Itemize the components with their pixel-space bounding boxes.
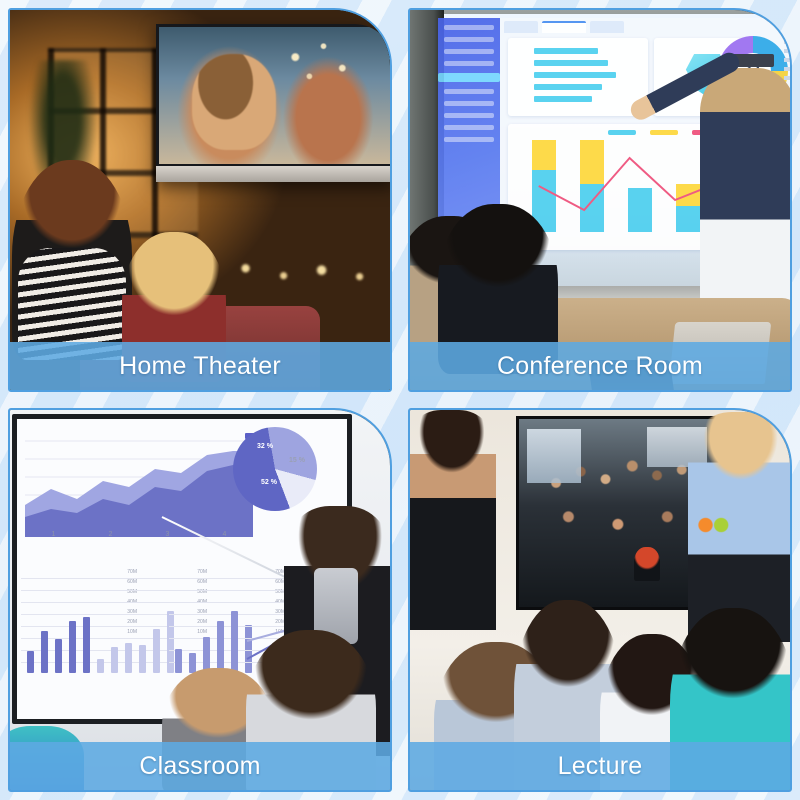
- horizontal-bar-chart: [508, 38, 648, 116]
- held-fruit: [696, 514, 730, 536]
- panel-cell-classroom: 1 2 3 4 32 % 15 % 52 %: [0, 400, 400, 800]
- legend-swatch-unqualified: [650, 130, 678, 135]
- speaker-left: [410, 410, 496, 630]
- scene-classroom: 1 2 3 4 32 % 15 % 52 %: [10, 410, 390, 790]
- area-chart: [25, 429, 253, 537]
- area-chart-axis: 1 2 3 4: [25, 531, 253, 538]
- panel-conference-room[interactable]: 14: [408, 8, 792, 392]
- scene-conference-room: 14: [410, 10, 790, 390]
- scene-home-theater: [10, 10, 390, 390]
- sidebar-item-dashboard[interactable]: [438, 73, 500, 82]
- pie-label-2: 15 %: [289, 457, 305, 464]
- sidebar-item-mp-report[interactable]: [444, 89, 494, 94]
- projected-window-left: [527, 429, 581, 483]
- axis-tick: 3: [166, 531, 170, 538]
- sidebar-item-first-pass-report[interactable]: [444, 101, 494, 106]
- axis-tick: 1: [52, 531, 56, 538]
- scenario-grid: Home Theater: [0, 0, 800, 800]
- sidebar-item-work-order-actual-hours[interactable]: [444, 49, 494, 54]
- panel-caption-lecture: Lecture: [410, 742, 790, 790]
- panel-caption-home-theater: Home Theater: [10, 342, 390, 390]
- axis-tick: 2: [109, 531, 113, 538]
- projection-screen: [156, 24, 390, 182]
- sidebar-item-workshop-load[interactable]: [444, 113, 494, 118]
- axis-tick: 4: [223, 531, 227, 538]
- projected-foreground-person: [634, 547, 660, 581]
- sidebar-group-productivity[interactable]: [444, 25, 494, 30]
- viewer-adult: [12, 160, 132, 360]
- legend-swatch-inspection: [608, 130, 636, 135]
- panel-home-theater[interactable]: Home Theater: [8, 8, 392, 392]
- tab-dashboard[interactable]: [542, 21, 586, 33]
- dashboard-tabbar[interactable]: [504, 21, 624, 33]
- pie-label-3: 52 %: [261, 479, 277, 486]
- panel-classroom[interactable]: 1 2 3 4 32 % 15 % 52 %: [8, 408, 392, 792]
- presenter: [700, 68, 790, 312]
- pie-chart: 32 % 15 % 52 %: [233, 427, 317, 511]
- tab-warning[interactable]: [504, 21, 538, 33]
- sidebar-group-integrated-query[interactable]: [444, 61, 494, 66]
- scene-lecture: [410, 410, 790, 790]
- screen-bottom-bar: [156, 166, 390, 182]
- panel-caption-conference-room: Conference Room: [410, 342, 790, 390]
- sidebar-item-group-load[interactable]: [444, 125, 494, 130]
- panel-lecture[interactable]: Lecture: [408, 408, 792, 792]
- pie-label-1: 32 %: [257, 443, 273, 450]
- panel-caption-classroom: Classroom: [10, 742, 390, 790]
- tab-mp-report[interactable]: [590, 21, 624, 33]
- movie-frame: [159, 27, 390, 164]
- panel-cell-lecture: Lecture: [400, 400, 800, 800]
- sidebar-item-employee-hours[interactable]: [444, 37, 494, 42]
- sidebar-item-clean-room-data[interactable]: [444, 137, 494, 142]
- panel-cell-home-theater: Home Theater: [0, 0, 400, 400]
- panel-cell-conference-room: 14: [400, 0, 800, 400]
